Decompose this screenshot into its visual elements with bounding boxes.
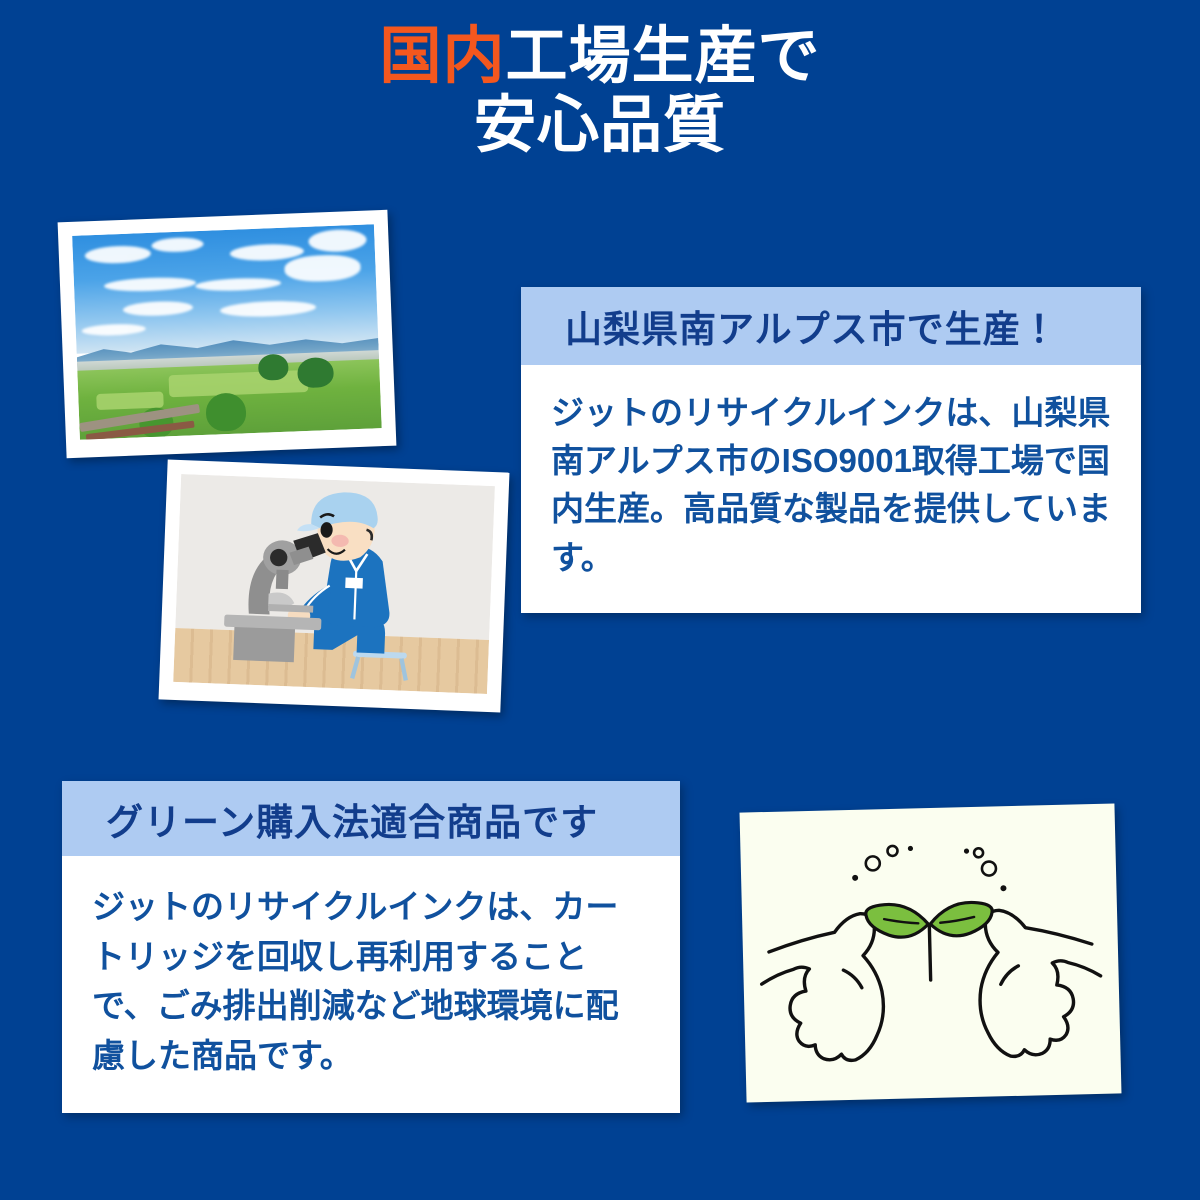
card-body-green-purchase: ジットのリサイクルインクは、カートリッジを回収し再利用することで、ごみ排出削減な… <box>62 856 680 1080</box>
page-title: 国内工場生産で 安心品質 <box>0 22 1200 161</box>
title-accent-text: 国内 <box>379 22 505 91</box>
microscope-photo <box>159 460 510 713</box>
title-line-1: 国内工場生産で <box>0 22 1200 91</box>
card-body-production: ジットのリサイクルインクは、山梨県南アルプス市のISO9001取得工場で国内生産… <box>521 365 1141 582</box>
title-line-2: 安心品質 <box>0 91 1200 160</box>
card-header-production: 山梨県南アルプス市で生産！ <box>521 287 1141 365</box>
hands-holding-sprout-icon <box>740 803 1122 1102</box>
promo-banner: 国内工場生産で 安心品質 <box>0 0 1200 1200</box>
title-line-1-rest: 工場生産で <box>506 22 821 91</box>
landscape-photo-image <box>72 224 382 439</box>
worker-with-microscope-icon <box>173 474 495 694</box>
eco-illustration-card <box>740 803 1122 1102</box>
info-card-green-purchase: グリーン購入法適合商品です ジットのリサイクルインクは、カートリッジを回収し再利… <box>62 781 680 1113</box>
card-body-text: ジットのリサイクルインクは、カートリッジを回収し再利用することで、ごみ排出削減な… <box>92 882 650 1080</box>
info-card-production: 山梨県南アルプス市で生産！ ジットのリサイクルインクは、山梨県南アルプス市のIS… <box>521 287 1141 613</box>
tree <box>205 393 246 433</box>
card-header-green-purchase: グリーン購入法適合商品です <box>62 781 680 856</box>
microscope-illustration <box>173 474 495 694</box>
landscape-photo <box>58 210 397 458</box>
card-body-text: ジットのリサイクルインクは、山梨県南アルプス市のISO9001取得工場で国内生産… <box>551 389 1111 582</box>
